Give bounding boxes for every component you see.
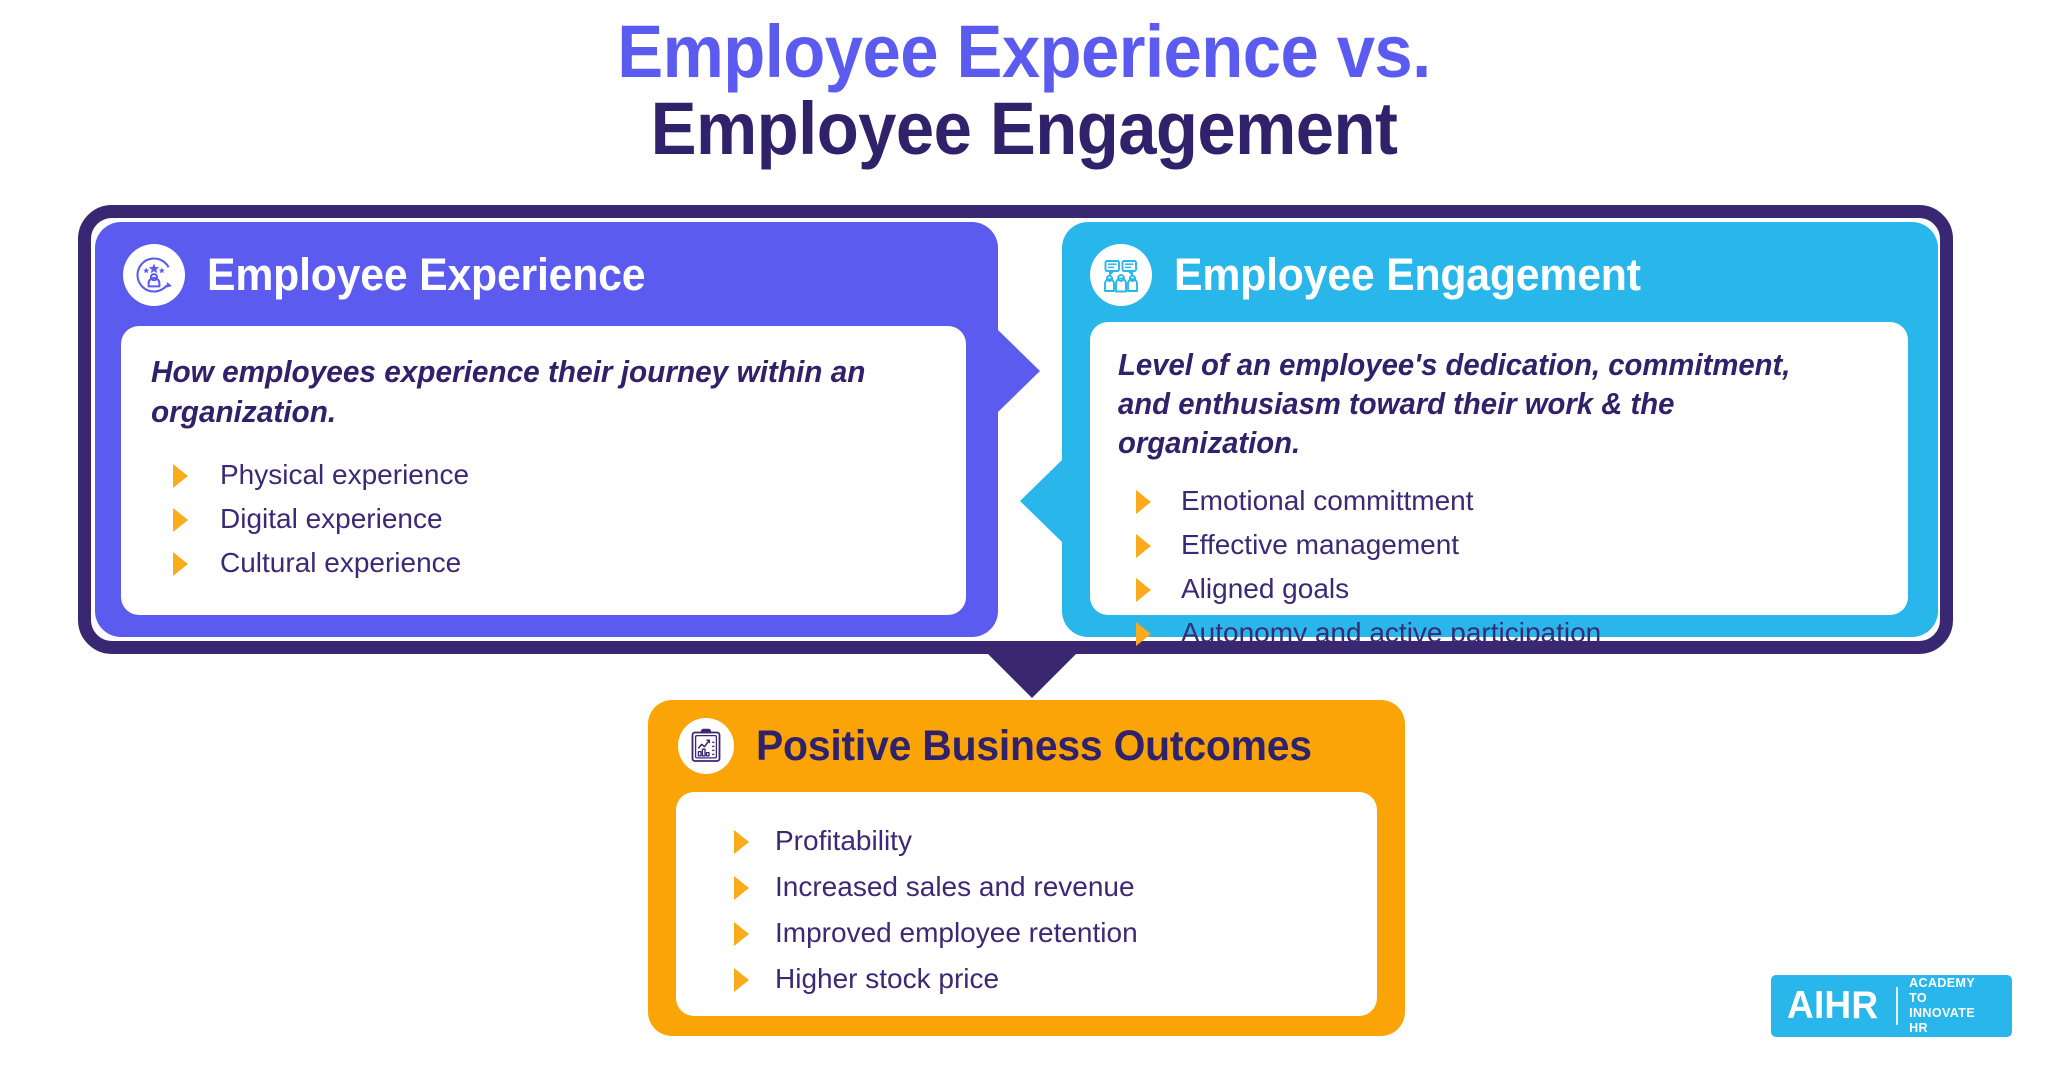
list-item-label: Emotional committment — [1181, 487, 1474, 515]
positive-business-outcomes-title: Positive Business Outcomes — [756, 722, 1312, 771]
list-item-label: Autonomy and active participation — [1181, 619, 1601, 647]
logo-tagline-line-1: ACADEMY TO — [1909, 976, 1996, 1007]
arrow-right-icon — [998, 330, 1040, 412]
list-item: Physical experience — [151, 453, 936, 497]
logo-tagline-line-2: INNOVATE HR — [1909, 1006, 1996, 1037]
employee-experience-title: Employee Experience — [207, 249, 645, 301]
triangle-bullet-icon — [173, 508, 188, 532]
list-item-label: Profitability — [775, 827, 912, 855]
employee-engagement-card: Employee Engagement Level of an employee… — [1062, 222, 1938, 637]
list-item-label: Improved employee retention — [775, 919, 1138, 947]
triangle-bullet-icon — [1136, 490, 1151, 514]
triangle-bullet-icon — [1136, 622, 1151, 646]
employee-experience-bullet-list: Physical experience Digital experience C… — [151, 453, 936, 585]
list-item: Effective management — [1118, 523, 1880, 567]
triangle-bullet-icon — [1136, 534, 1151, 558]
arrow-down-icon — [985, 651, 1079, 698]
triangle-bullet-icon — [734, 922, 749, 946]
page-title: Employee Experience vs. Employee Engagem… — [0, 14, 2048, 168]
employee-experience-description: How employees experience their journey w… — [151, 352, 905, 431]
list-item-label: Aligned goals — [1181, 575, 1349, 603]
triangle-bullet-icon — [173, 552, 188, 576]
triangle-bullet-icon — [734, 968, 749, 992]
infographic-canvas: Employee Experience vs. Employee Engagem… — [0, 0, 2048, 1071]
person-stars-badge-icon — [123, 244, 185, 306]
list-item: Profitability — [704, 818, 1349, 864]
employee-engagement-header: Employee Engagement — [1062, 222, 1938, 318]
logo-divider — [1896, 987, 1898, 1025]
list-item: Autonomy and active participation — [1118, 611, 1880, 655]
positive-business-outcomes-bullet-list: Profitability Increased sales and revenu… — [704, 818, 1349, 1002]
list-item-label: Digital experience — [220, 505, 443, 533]
triangle-bullet-icon — [1136, 578, 1151, 602]
list-item: Higher stock price — [704, 956, 1349, 1002]
title-line-1: Employee Experience vs. — [72, 14, 1977, 91]
triangle-bullet-icon — [734, 876, 749, 900]
employee-experience-header: Employee Experience — [95, 222, 998, 318]
aihr-logo: AIHR ACADEMY TO INNOVATE HR — [1771, 975, 2012, 1037]
list-item: Aligned goals — [1118, 567, 1880, 611]
employee-engagement-description: Level of an employee's dedication, commi… — [1118, 346, 1850, 463]
employee-engagement-panel: Level of an employee's dedication, commi… — [1090, 322, 1908, 615]
employee-engagement-title: Employee Engagement — [1174, 249, 1641, 301]
list-item-label: Effective management — [1181, 531, 1459, 559]
employee-experience-card: Employee Experience How employees experi… — [95, 222, 998, 637]
clipboard-chart-icon — [678, 718, 734, 774]
list-item: Improved employee retention — [704, 910, 1349, 956]
list-item-label: Physical experience — [220, 461, 469, 489]
arrow-left-icon — [1020, 460, 1062, 542]
positive-business-outcomes-card: Positive Business Outcomes Profitability… — [648, 700, 1405, 1036]
list-item: Cultural experience — [151, 541, 936, 585]
title-line-2: Employee Engagement — [72, 91, 1977, 168]
logo-tagline: ACADEMY TO INNOVATE HR — [1909, 976, 1996, 1037]
list-item-label: Increased sales and revenue — [775, 873, 1135, 901]
list-item-label: Higher stock price — [775, 965, 999, 993]
people-speech-bubbles-icon — [1090, 244, 1152, 306]
positive-business-outcomes-header: Positive Business Outcomes — [648, 700, 1405, 784]
list-item: Digital experience — [151, 497, 936, 541]
logo-wordmark: AIHR — [1787, 984, 1878, 1028]
employee-experience-panel: How employees experience their journey w… — [121, 326, 966, 615]
triangle-bullet-icon — [734, 830, 749, 854]
list-item-label: Cultural experience — [220, 549, 461, 577]
list-item: Increased sales and revenue — [704, 864, 1349, 910]
list-item: Emotional committment — [1118, 479, 1880, 523]
employee-engagement-bullet-list: Emotional committment Effective manageme… — [1118, 479, 1880, 655]
triangle-bullet-icon — [173, 464, 188, 488]
positive-business-outcomes-panel: Profitability Increased sales and revenu… — [676, 792, 1377, 1016]
